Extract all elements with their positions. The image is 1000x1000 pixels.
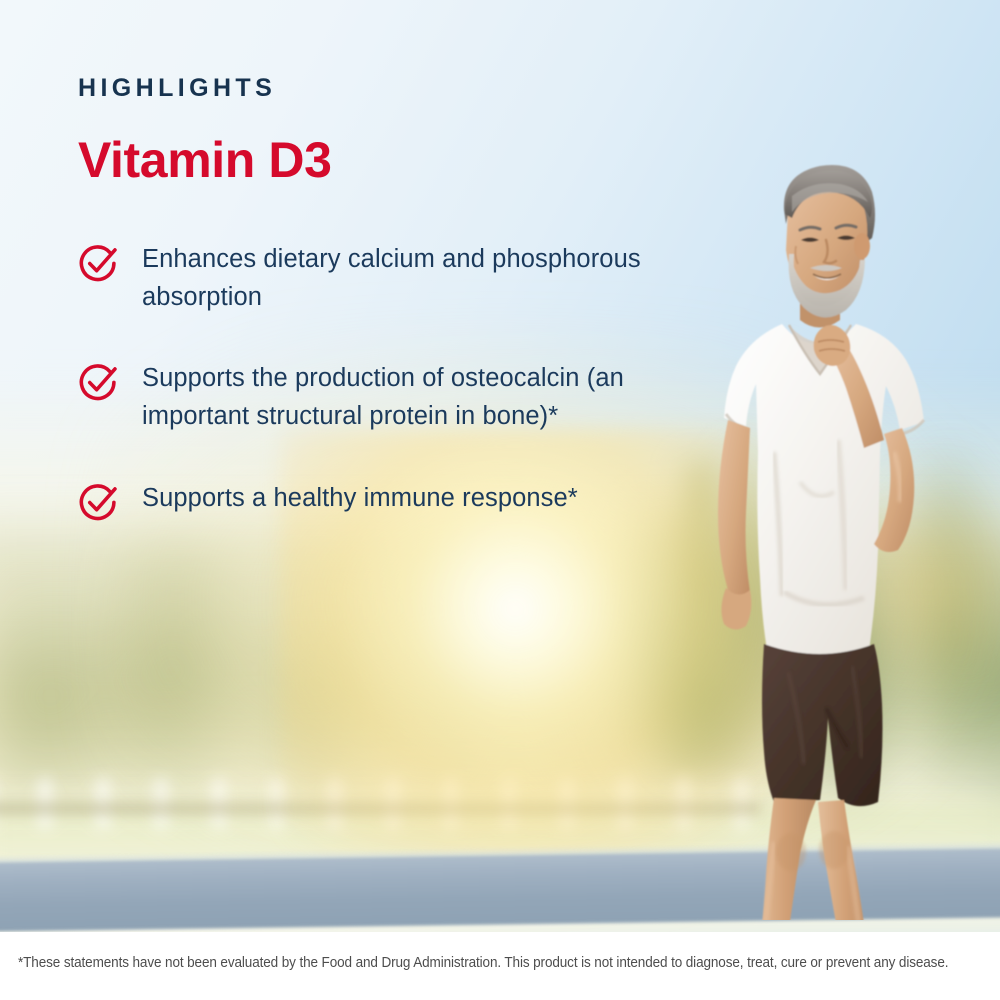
list-item: Supports a healthy immune response*: [78, 480, 658, 524]
page-title: Vitamin D3: [78, 135, 658, 185]
list-item-label: Enhances dietary calcium and phosphorous…: [142, 241, 642, 316]
check-circle-icon: [78, 482, 120, 524]
highlights-poster: HIGHLIGHTS Vitamin D3 Enhances dietary c…: [0, 0, 1000, 1000]
list-item: Enhances dietary calcium and phosphorous…: [78, 241, 658, 316]
eyebrow-label: HIGHLIGHTS: [78, 76, 658, 101]
benefits-list: Enhances dietary calcium and phosphorous…: [78, 241, 658, 524]
disclaimer-footer: *These statements have not been evaluate…: [0, 932, 1000, 1000]
list-item-label: Supports the production of osteocalcin (…: [142, 360, 642, 435]
fda-disclaimer-text: *These statements have not been evaluate…: [18, 955, 930, 971]
check-circle-icon: [78, 243, 120, 285]
list-item-label: Supports a healthy immune response*: [142, 480, 578, 518]
fence-rail: [0, 803, 760, 813]
check-circle-icon: [78, 362, 120, 404]
highlights-content: HIGHLIGHTS Vitamin D3 Enhances dietary c…: [78, 76, 658, 524]
list-item: Supports the production of osteocalcin (…: [78, 360, 658, 435]
runner-photo-subject: [688, 152, 988, 920]
